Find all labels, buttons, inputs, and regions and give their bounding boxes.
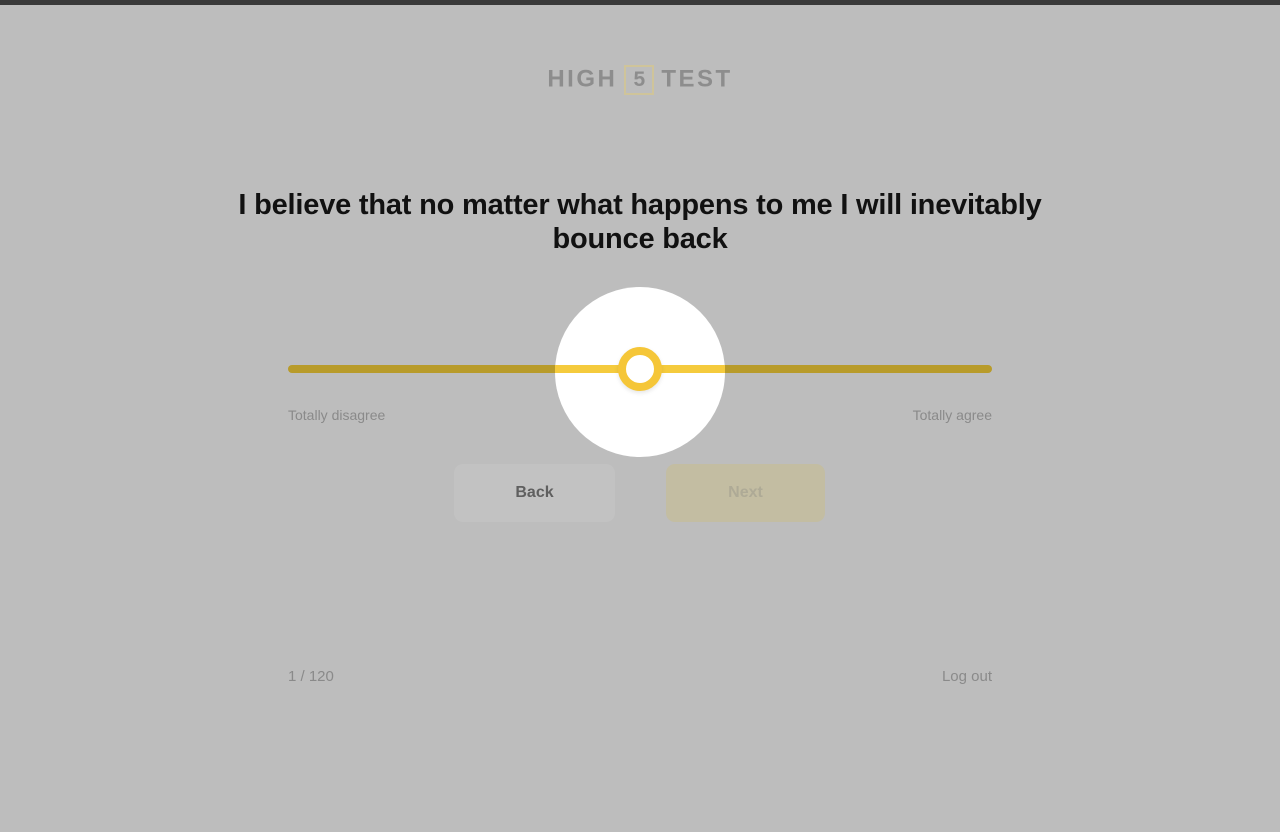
progress-counter: 1 / 120: [288, 668, 334, 685]
page-root: HIGH5TEST I believe that no matter what …: [0, 5, 1280, 832]
slider-thumb[interactable]: [618, 347, 662, 391]
brand-word-test: TEST: [661, 66, 732, 93]
footer: 1 / 120 Log out: [0, 668, 1280, 698]
question-text: I believe that no matter what happens to…: [190, 188, 1090, 256]
slider-label-max: Totally agree: [913, 407, 992, 423]
logout-link[interactable]: Log out: [942, 668, 992, 685]
brand-logo: HIGH5TEST: [0, 63, 1280, 96]
brand-word-high: HIGH: [547, 66, 617, 93]
brand-badge-five: 5: [624, 65, 654, 95]
back-button[interactable]: Back: [454, 464, 615, 522]
next-button[interactable]: Next: [666, 464, 825, 522]
navigation-buttons: Back Next: [0, 464, 1280, 524]
likert-slider[interactable]: Totally disagree Totally agree: [288, 282, 992, 442]
slider-label-min: Totally disagree: [288, 407, 385, 423]
